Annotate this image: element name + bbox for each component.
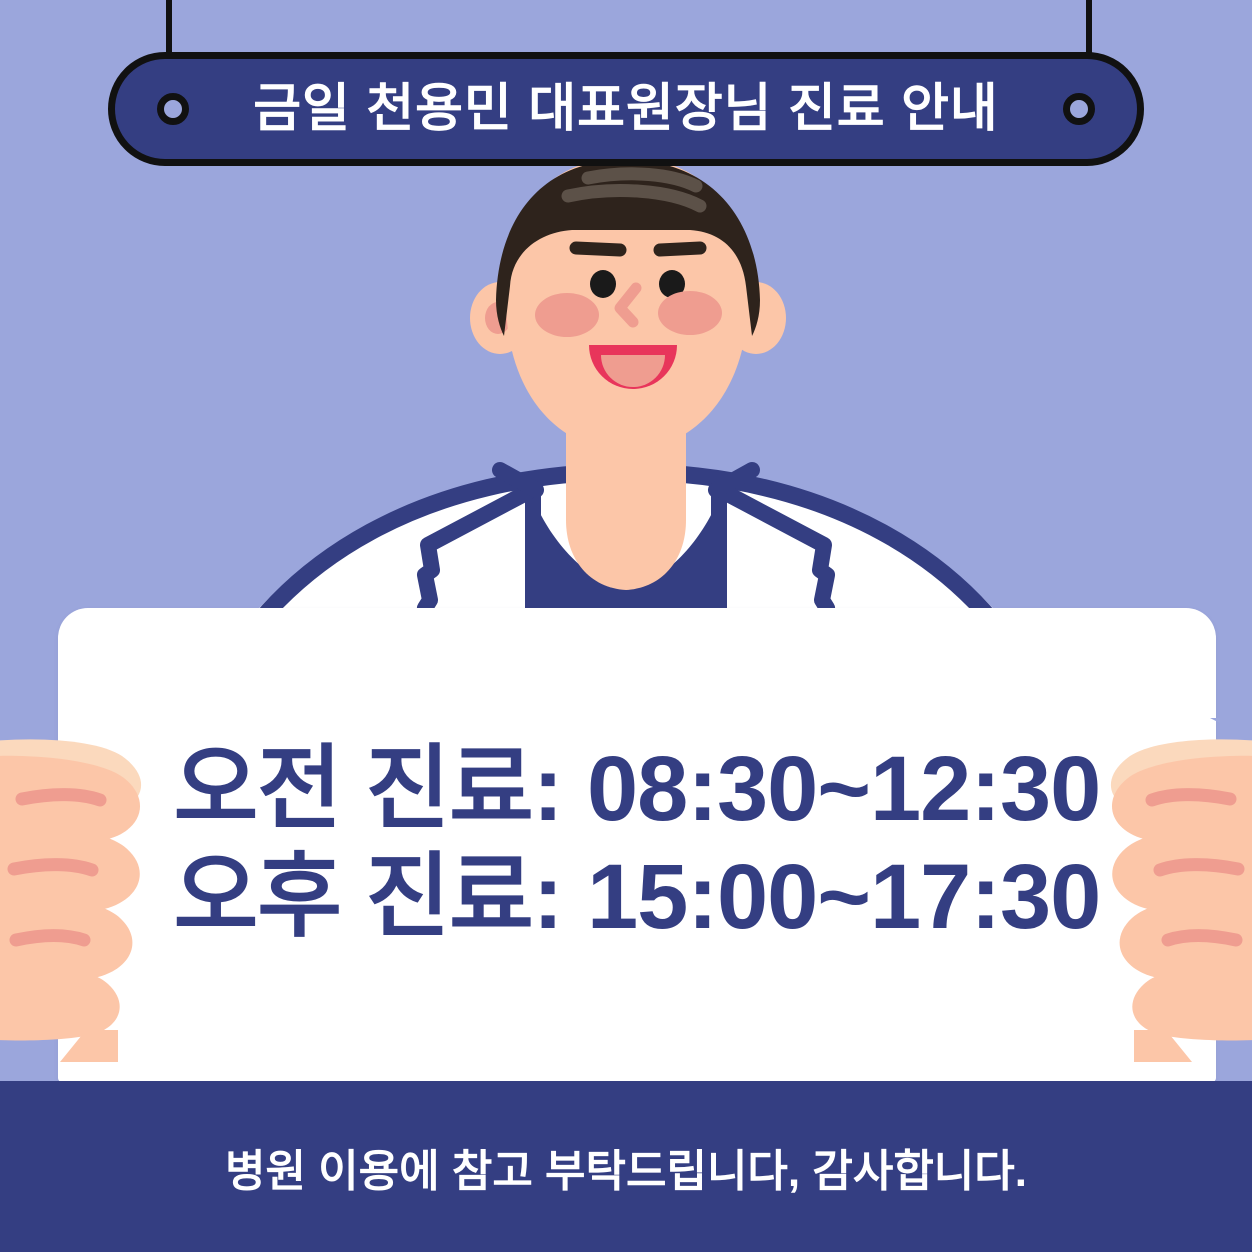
sign-title: 금일 천용민 대표원장님 진료 안내 (253, 83, 999, 135)
schedule-lines: 오전 진료: 08:30~12:30 오후 진료: 15:00~17:30 (58, 736, 1216, 951)
eyebrow-left (576, 248, 620, 250)
schedule-line-morning: 오전 진료: 08:30~12:30 (138, 736, 1136, 844)
poster-root: 금일 천용민 대표원장님 진료 안내 (0, 0, 1252, 1252)
blush-left (535, 293, 599, 337)
rivet-right-icon (1063, 93, 1095, 125)
schedule-board: 오전 진료: 08:30~12:30 오후 진료: 15:00~17:30 (58, 608, 1216, 1082)
footer-banner: 병원 이용에 참고 부탁드립니다, 감사합니다. (0, 1081, 1252, 1252)
blush-right (658, 291, 722, 335)
footer-message: 병원 이용에 참고 부탁드립니다, 감사합니다. (225, 1135, 1027, 1199)
hanging-sign: 금일 천용민 대표원장님 진료 안내 (108, 52, 1144, 166)
eyebrow-right (660, 248, 700, 250)
rivet-left-icon (157, 93, 189, 125)
schedule-line-afternoon: 오후 진료: 15:00~17:30 (138, 844, 1136, 952)
eye-left (590, 270, 616, 298)
